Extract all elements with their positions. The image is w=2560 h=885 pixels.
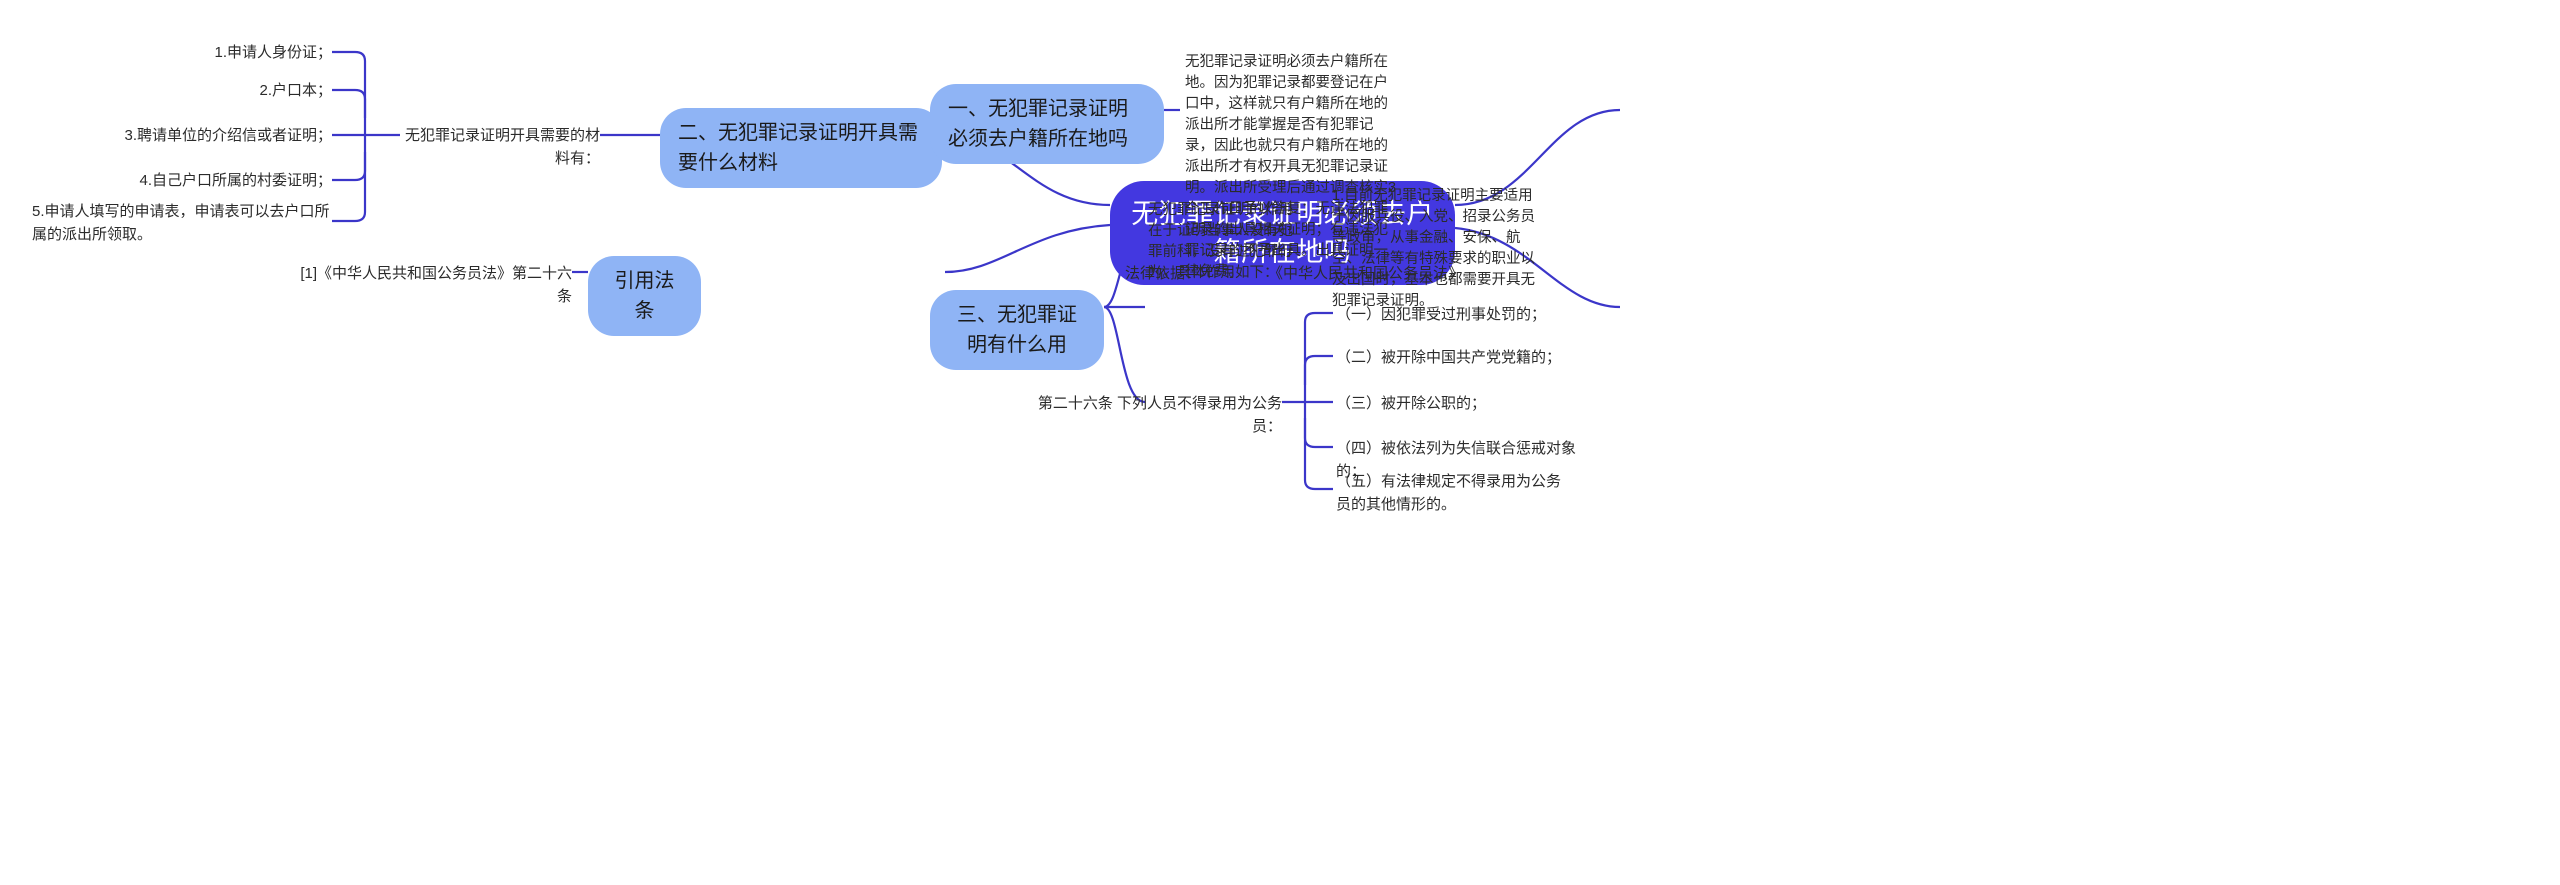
article-item-5: （五）有法律规定不得录用为公务员的其他情形的。 bbox=[1336, 470, 1571, 516]
bracket-article-4 bbox=[1305, 418, 1333, 447]
article-item-2: （二）被开除中国共产党党籍的； bbox=[1336, 346, 1586, 369]
use-paragraph-1: 1.目前无犯罪记录证明主要适用于因服兵役、入党、招录公务员等政审，从事金融、安保… bbox=[1332, 186, 1537, 312]
bracket-article-2 bbox=[1305, 356, 1333, 385]
legal-basis-label: 法律依据： bbox=[1125, 262, 1215, 285]
bracket-material-2 bbox=[332, 90, 365, 118]
branch-node-materials[interactable]: 二、无犯罪记录证明开具需要什么材料 bbox=[660, 108, 942, 188]
branch-node-use[interactable]: 三、无犯罪证明有什么用 bbox=[930, 290, 1104, 370]
bracket-material-5 bbox=[332, 135, 365, 221]
bracket-article-5 bbox=[1305, 402, 1333, 489]
branch-node-citation[interactable]: 引用法条 bbox=[588, 256, 701, 336]
materials-connector-label: 无犯罪记录证明开具需要的材料有： bbox=[400, 124, 600, 170]
bracket-material-4 bbox=[332, 152, 365, 180]
bracket-material-1 bbox=[332, 52, 365, 135]
link-use-to-article bbox=[1104, 307, 1145, 402]
material-item-1: 1.申请人身份证； bbox=[32, 41, 332, 64]
link-root-to-citation bbox=[945, 225, 1110, 272]
material-item-2: 2.户口本； bbox=[32, 79, 332, 102]
bracket-article-1 bbox=[1305, 313, 1333, 402]
mindmap-canvas: 无犯罪记录证明必须去户籍所在地吗 二、无犯罪记录证明开具需要什么材料 无犯罪记录… bbox=[0, 0, 2560, 885]
material-item-5: 5.申请人填写的申请表，申请表可以去户口所属的派出所领取。 bbox=[32, 200, 332, 246]
legal-basis-value: 《中华人民共和国公务员法》 bbox=[1268, 262, 1498, 285]
citation-item-1: [1]《中华人民共和国公务员法》第二十六条 bbox=[292, 262, 572, 308]
branch-node-must-go[interactable]: 一、无犯罪记录证明必须去户籍所在地吗 bbox=[930, 84, 1164, 164]
article-item-3: （三）被开除公职的； bbox=[1336, 392, 1586, 415]
article-label: 第二十六条 下列人员不得录用为公务员： bbox=[1030, 392, 1282, 438]
material-item-4: 4.自己户口所属的村委证明； bbox=[32, 169, 332, 192]
article-item-1: （一）因犯罪受过刑事处罚的； bbox=[1336, 303, 1586, 326]
material-item-3: 3.聘请单位的介绍信或者证明； bbox=[32, 124, 332, 147]
